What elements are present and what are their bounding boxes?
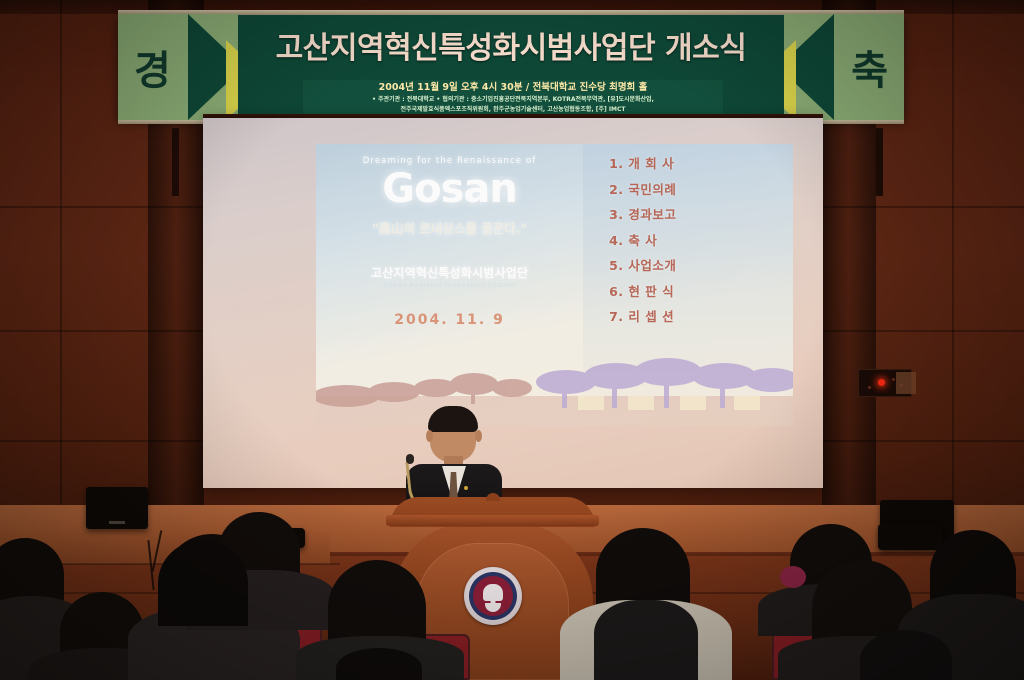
podium-knob	[486, 493, 500, 501]
banner-title: 고산지역혁신특성화시범사업단 개소식	[238, 34, 784, 64]
agenda-item: 5. 사업소개	[609, 260, 793, 273]
audience-collar-accent	[780, 566, 806, 588]
podium-top-lip	[386, 515, 599, 526]
screen-mount-left	[172, 128, 179, 196]
projection-screen: Dreaming for the Renaissance of Gosan "高…	[203, 118, 823, 488]
panel-dot	[868, 386, 871, 389]
banner-right-corner: 축	[784, 14, 904, 120]
agenda-item: 7. 리 셉 션	[609, 311, 793, 324]
agenda-item: 1. 개 회 사	[609, 158, 793, 171]
slide-quote: "高山의 르네상스를 꿈꾼다."	[316, 218, 583, 237]
microphone-head	[406, 454, 414, 464]
slide-organization-en: Gosan Regional Innovation System	[316, 281, 583, 289]
speaker-lapel-pin	[464, 486, 468, 490]
audience-head	[158, 540, 248, 626]
speaker-badge	[109, 521, 125, 524]
banner-left-char: 경	[134, 38, 171, 96]
chevron-yellow	[784, 40, 796, 120]
tree-silhouette-graphic	[316, 352, 793, 426]
wall-seam	[952, 0, 954, 560]
slide-pretitle: Dreaming for the Renaissance of	[316, 156, 583, 166]
slide-organization-ko: 고산지역혁신특성화시범사업단	[316, 264, 583, 281]
panel-dot	[892, 378, 895, 381]
agenda-item: 6. 현 판 식	[609, 286, 793, 299]
wall-plate	[896, 372, 916, 394]
banner-sponsors-line-2: 전주국제발효식품엑스포조직위원회, 완주군농업기술센터, 고산농업협동조합, […	[303, 105, 723, 115]
stage-monitor-speaker-left	[86, 487, 148, 529]
banner-left-corner: 경	[118, 14, 238, 120]
university-crest-icon	[464, 567, 522, 625]
led-indicator-icon	[878, 379, 885, 386]
speaker-ear	[426, 430, 433, 442]
wall-seam	[60, 0, 62, 560]
screen-mount-right	[876, 128, 883, 196]
slide-date: 2004. 11. 9	[316, 312, 583, 328]
banner-datetime-venue: 2004년 11월 9일 오후 4시 30분 / 전북대학교 진수당 최명희 홀	[303, 82, 723, 95]
chevron-yellow	[226, 40, 238, 120]
agenda-item: 3. 경과보고	[609, 209, 793, 222]
agenda-item: 4. 축 사	[609, 235, 793, 248]
speaker-person	[408, 408, 500, 508]
banner-sponsors-line-1: • 주관기관 : 전북대학교 • 협의기관 : 중소기업진흥공단전북지역본부, …	[303, 95, 723, 105]
audience-shoulders	[594, 600, 698, 680]
stage-equipment-bag	[878, 524, 942, 550]
slide-title: Gosan	[316, 166, 583, 212]
banner-right-char: 축	[851, 38, 888, 96]
audience-head	[336, 648, 422, 680]
speaker-ear	[475, 430, 482, 442]
projected-slide: Dreaming for the Renaissance of Gosan "高…	[316, 144, 793, 426]
speaker-hair	[428, 406, 478, 432]
agenda-item: 2. 국민의례	[609, 184, 793, 197]
slide-agenda-list: 1. 개 회 사 2. 국민의례 3. 경과보고 4. 축 사 5. 사업소개 …	[583, 158, 793, 337]
auditorium-photo: 경 축 고산지역혁신특성화시범사업단 개소식 2004년 11월 9일 오후 4…	[0, 0, 1024, 680]
banner-subtitle-block: 2004년 11월 9일 오후 4시 30분 / 전북대학교 진수당 최명희 홀…	[303, 80, 723, 117]
event-banner: 경 축 고산지역혁신특성화시범사업단 개소식 2004년 11월 9일 오후 4…	[118, 14, 904, 120]
